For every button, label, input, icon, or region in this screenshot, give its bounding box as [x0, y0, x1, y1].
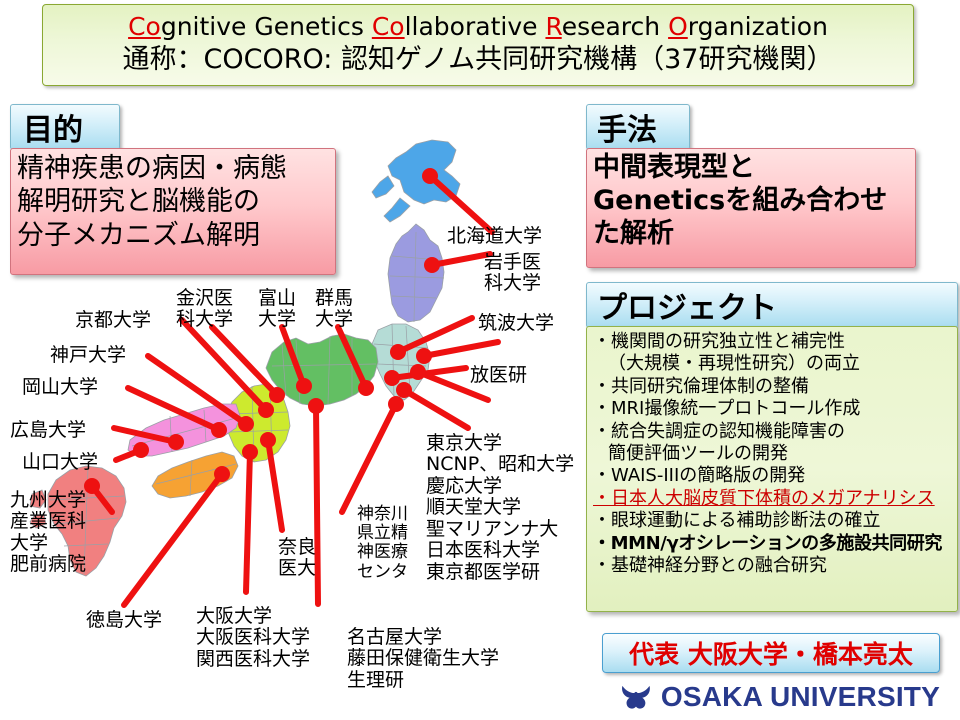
map-label-line: 九州大学	[10, 490, 86, 511]
project-item: ・WAIS-IIIの簡略版の開発	[593, 465, 953, 487]
connector-hokkaido	[430, 176, 492, 232]
method-line-3: た解析	[593, 218, 909, 251]
connector-kanagawa	[342, 404, 396, 512]
dot-houigaken	[384, 370, 400, 386]
title-banner: Cognitive Genetics Collaborative Researc…	[42, 4, 914, 86]
map-label-line: 順天堂大学	[426, 497, 574, 518]
panel-project-body: ・機関間の研究独立性と補完性 （大規模・再現性研究）の両立 ・共同研究倫理体制の…	[586, 326, 958, 612]
region-kansai	[226, 384, 290, 462]
region-chubu-lines	[272, 336, 376, 404]
map-label-houigaken: 放医研	[470, 365, 527, 386]
purpose-line-3: 分子メカニズム解明	[17, 219, 329, 252]
project-item: ・MMN/γオシレーションの多施設共同研究	[593, 533, 953, 555]
map-label-line: センタ	[357, 563, 408, 582]
map-label-line: 大学	[315, 309, 353, 330]
map-label-line: 大学	[10, 533, 86, 554]
connector-nara	[268, 440, 282, 530]
map-label-line: 神戸大学	[50, 345, 126, 366]
connector-tokushima	[124, 474, 222, 605]
map-label-line: NCNP、昭和大学	[426, 454, 574, 475]
connector-kyushu	[92, 486, 112, 512]
map-label-line: 生理研	[347, 670, 499, 691]
dot-nagoya	[308, 398, 324, 414]
dot-kanazawa	[269, 387, 285, 403]
project-item: ・統合失調症の認知機能障害の	[593, 421, 953, 443]
slide-canvas: Cognitive Genetics Collaborative Researc…	[0, 0, 960, 720]
map-label-hokkaido-univ: 北海道大学	[447, 226, 542, 247]
map-label-nara-medical: 奈良 医大	[278, 537, 316, 580]
map-label-line: 山口大学	[22, 452, 98, 473]
map-label-line: 岩手医	[484, 252, 541, 273]
project-item: ・MRI撮像統一プロトコール作成	[593, 398, 953, 420]
connector-okayama	[128, 388, 219, 430]
map-label-line: 徳島大学	[86, 610, 162, 631]
dot-tokyo-1	[396, 382, 412, 398]
project-item: ・眼球運動による補助診断法の確立	[593, 510, 953, 532]
map-label-line: 北海道大学	[447, 226, 542, 247]
representative-banner: 代表 大阪大学・橋本亮太	[602, 633, 940, 673]
connector-hiroshima	[114, 428, 176, 442]
purpose-line-2: 解明研究と脳機能の	[17, 185, 329, 218]
tab-project[interactable]: プロジェクト	[586, 282, 958, 328]
method-line-2: Geneticsを組み合わせ	[593, 185, 909, 218]
project-item: ・共同研究倫理体制の整備	[593, 376, 953, 398]
connector-kobe	[148, 356, 246, 424]
project-item: ・機関間の研究独立性と補完性	[593, 331, 953, 353]
map-label-line: 日本医科大学	[426, 540, 574, 561]
dot-tokyo-3	[416, 348, 432, 364]
map-label-line: 名古屋大学	[347, 627, 499, 648]
connector-tsukuba	[398, 318, 472, 352]
map-label-tsukuba-univ: 筑波大学	[478, 313, 554, 334]
dot-kanagawa	[388, 396, 404, 412]
region-tohoku	[388, 224, 444, 322]
map-label-line: 聖マリアンナ大	[426, 519, 574, 540]
map-label-hiroshima-univ: 広島大学	[10, 420, 86, 441]
region-chugoku-lines	[132, 410, 236, 452]
map-label-line: 医大	[278, 558, 316, 579]
map-label-line: 藤田保健衛生大学	[347, 648, 499, 669]
region-chugoku	[128, 404, 240, 456]
map-label-kyushu-group: 九州大学 産業医科 大学 肥前病院	[10, 490, 86, 576]
map-label-tokyo-group: 東京大学 NCNP、昭和大学 慶応大学 順天堂大学 聖マリアンナ大 日本医科大学…	[426, 433, 574, 583]
map-label-line: 大阪医科大学	[196, 627, 310, 648]
dot-tokyo-2	[410, 364, 426, 380]
dot-toyama	[296, 378, 312, 394]
dot-tokushima	[214, 466, 230, 482]
osaka-university-mark-icon	[620, 680, 652, 714]
map-label-kanazawa-medical: 金沢医 科大学	[176, 288, 233, 331]
dot-hokkaido	[422, 168, 438, 184]
dot-tsukuba	[390, 344, 406, 360]
map-label-tokushima-univ: 徳島大学	[86, 610, 162, 631]
region-kanto	[372, 324, 430, 400]
map-label-line: 広島大学	[10, 420, 86, 441]
method-line-1: 中間表現型と	[593, 152, 909, 185]
connector-kyoto	[182, 320, 266, 410]
connector-yamaguchi	[116, 450, 141, 460]
map-label-line: 京都大学	[75, 310, 151, 331]
map-label-line: 神奈川	[357, 505, 408, 524]
dot-osaka	[242, 444, 258, 460]
dot-kyushu	[84, 478, 100, 494]
title-line-japanese: 通称：COCORO: 認知ゲノム共同研究機構（37研究機関）	[123, 44, 834, 76]
connector-osaka	[246, 452, 250, 592]
map-label-line: 関西医科大学	[196, 649, 310, 670]
map-label-line: 岡山大学	[22, 377, 98, 398]
map-label-nagoya-group: 名古屋大学 藤田保健衛生大学 生理研	[347, 627, 499, 691]
region-hokkaido	[388, 140, 460, 204]
project-item: ・基礎神経分野との融合研究	[593, 555, 953, 577]
connector-iwate	[432, 254, 490, 265]
title-line-english: Cognitive Genetics Collaborative Researc…	[128, 13, 828, 42]
connector-nagoya	[316, 406, 318, 604]
region-tohoku-lines	[390, 232, 444, 322]
map-label-line: 産業医科	[10, 511, 86, 532]
map-label-iwate-medical: 岩手医 科大学	[484, 252, 541, 295]
dot-kyoto	[258, 402, 274, 418]
region-hokkaido-tail	[372, 176, 394, 198]
map-label-line: 県立精	[357, 524, 408, 543]
map-label-line: 肥前病院	[10, 554, 86, 575]
map-label-yamaguchi-univ: 山口大学	[22, 452, 98, 473]
panel-method-body: 中間表現型と Geneticsを組み合わせ た解析	[586, 148, 916, 268]
region-hokkaido-south	[384, 198, 410, 222]
map-label-okayama-univ: 岡山大学	[22, 377, 98, 398]
map-label-kyoto-univ: 京都大学	[75, 310, 151, 331]
map-label-line: 大阪大学	[196, 606, 310, 627]
map-label-line: 筑波大学	[478, 313, 554, 334]
map-label-line: 金沢医	[176, 288, 233, 309]
map-label-line: 東京都医学研	[426, 562, 574, 583]
dot-hiroshima	[168, 434, 184, 450]
project-item-highlighted[interactable]: ・日本人大脳皮質下体積のメガアナリシス	[593, 488, 953, 510]
project-item: 簡便評価ツールの開発	[593, 443, 953, 465]
dot-iwate	[424, 257, 440, 273]
osaka-university-logo-text: OSAKA UNIVERSITY	[661, 681, 940, 713]
region-kansai-lines	[228, 386, 288, 462]
connector-toyama	[282, 327, 304, 386]
connector-tokyo-1	[404, 390, 468, 428]
tab-method[interactable]: 手法	[586, 104, 690, 150]
connector-houigaken	[392, 368, 466, 378]
map-label-line: 大学	[258, 309, 296, 330]
map-label-line: 科大学	[484, 273, 541, 294]
dot-yamaguchi	[133, 442, 149, 458]
map-label-line: 神医療	[357, 543, 408, 562]
project-item: （大規模・再現性研究）の両立	[593, 353, 953, 375]
map-label-line: 慶応大学	[426, 476, 574, 497]
dot-kobe	[238, 416, 254, 432]
dot-okayama	[211, 422, 227, 438]
map-label-line: 放医研	[470, 365, 527, 386]
connector-tokyo-3	[424, 342, 498, 356]
map-label-line: 奈良	[278, 537, 316, 558]
connector-gunma	[338, 327, 366, 388]
map-label-line: 東京大学	[426, 433, 574, 454]
region-shikoku	[152, 452, 238, 498]
dot-gunma	[358, 380, 374, 396]
map-label-kanagawa-center: 神奈川 県立精 神医療 センタ	[357, 505, 408, 582]
map-label-kobe-univ: 神戸大学	[50, 345, 126, 366]
map-label-toyama-univ: 富山 大学	[258, 288, 296, 331]
map-label-line: 群馬	[315, 288, 353, 309]
map-label-osaka-group: 大阪大学 大阪医科大学 関西医科大学	[196, 606, 310, 670]
map-label-gunma-univ: 群馬 大学	[315, 288, 353, 331]
map-label-line: 科大学	[176, 309, 233, 330]
map-label-line: 富山	[258, 288, 296, 309]
region-kanto-lines	[374, 324, 428, 396]
purpose-line-1: 精神疾患の病因・病態	[17, 152, 329, 185]
panel-purpose-body: 精神疾患の病因・病態 解明研究と脳機能の 分子メカニズム解明	[10, 148, 336, 275]
tab-purpose[interactable]: 目的	[10, 104, 120, 150]
osaka-university-logo: OSAKA UNIVERSITY	[620, 678, 940, 716]
connector-kanazawa	[212, 327, 277, 395]
region-shikoku-lines	[156, 460, 236, 496]
region-chubu	[266, 334, 378, 406]
dot-nara	[260, 432, 276, 448]
